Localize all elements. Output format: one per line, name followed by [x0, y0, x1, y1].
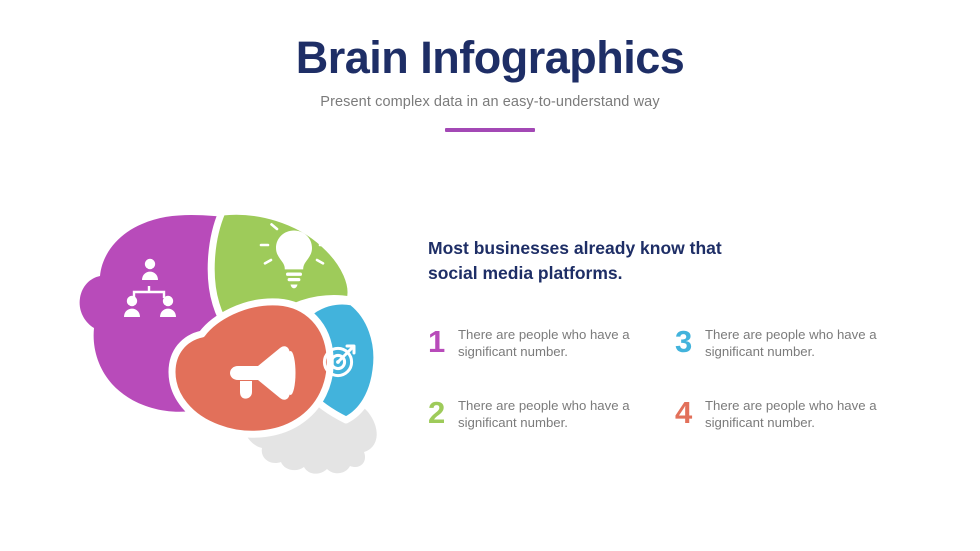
item-number: 4 — [675, 397, 705, 428]
item-number: 3 — [675, 326, 705, 357]
brain-illustration — [62, 200, 402, 480]
item-text: There are people who have a significant … — [705, 324, 922, 361]
list-item[interactable]: 1 There are people who have a significan… — [428, 324, 675, 361]
list-item[interactable]: 4 There are people who have a significan… — [675, 395, 922, 432]
page-subtitle: Present complex data in an easy-to-under… — [0, 94, 980, 110]
slide-header: Brain Infographics Present complex data … — [0, 34, 980, 132]
stat-items-grid: 1 There are people who have a significan… — [428, 324, 928, 432]
item-number: 1 — [428, 326, 458, 357]
content-panel: Most businesses already know that social… — [428, 236, 928, 431]
item-text: There are people who have a significant … — [458, 324, 675, 361]
slide-canvas: Brain Infographics Present complex data … — [0, 0, 980, 551]
list-item[interactable]: 2 There are people who have a significan… — [428, 395, 675, 432]
title-divider — [445, 128, 535, 132]
item-text: There are people who have a significant … — [458, 395, 675, 432]
list-item[interactable]: 3 There are people who have a significan… — [675, 324, 922, 361]
item-number: 2 — [428, 397, 458, 428]
content-heading: Most businesses already know that social… — [428, 236, 758, 286]
item-text: There are people who have a significant … — [705, 395, 922, 432]
page-title: Brain Infographics — [0, 34, 980, 83]
